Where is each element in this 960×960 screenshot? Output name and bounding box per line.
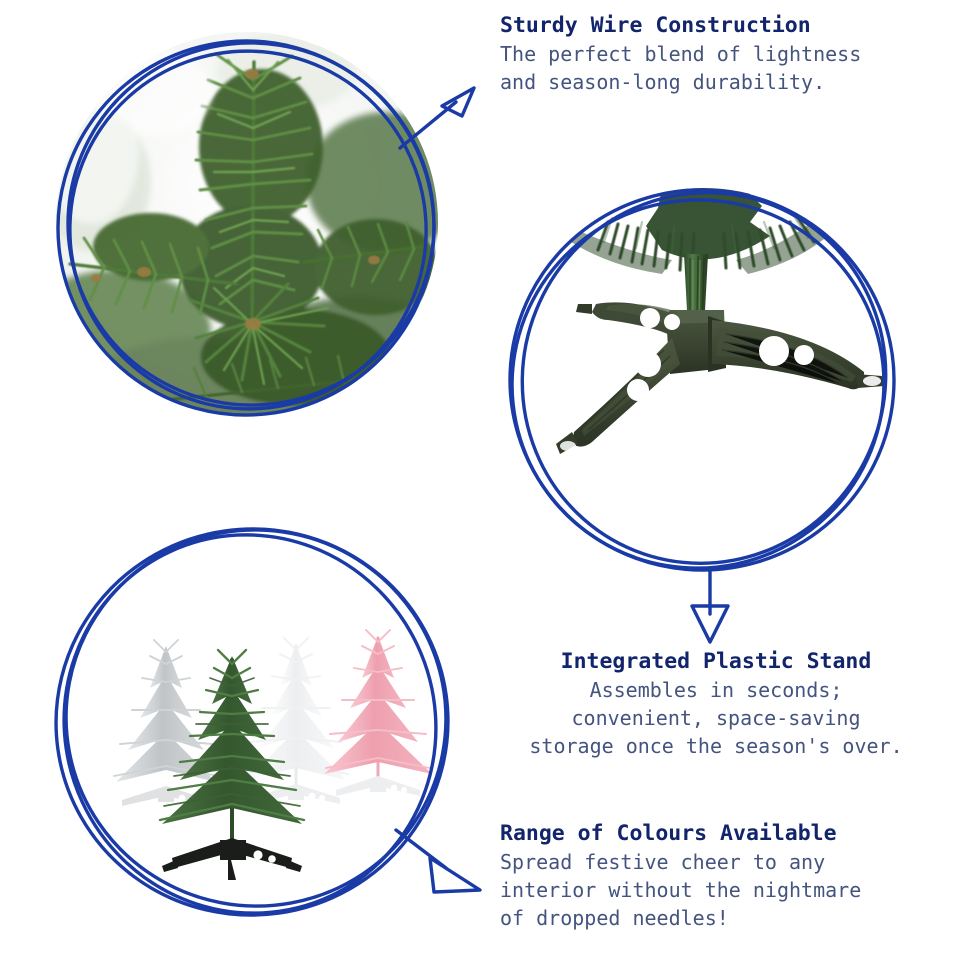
feature-body-range-of-colours-available: Spread festive cheer to any interior wit… (500, 848, 950, 933)
feature-body-line: of dropped needles! (500, 904, 950, 932)
feature-body-integrated-plastic-stand: Assembles in seconds; convenient, space-… (496, 676, 936, 761)
feature-heading-sturdy-wire-construction: Sturdy Wire Construction (500, 12, 950, 40)
feature-text-sturdy-wire-construction: Sturdy Wire Construction The perfect ble… (500, 12, 950, 96)
feature-text-range-of-colours-available: Range of Colours Available Spread festiv… (500, 820, 950, 933)
feature-body-line: Assembles in seconds; (496, 676, 936, 704)
feature-heading-range-of-colours-available: Range of Colours Available (500, 820, 950, 848)
pointer-arrow-integrated-plastic-stand (666, 566, 756, 656)
feature-body-line: and season-long durability. (500, 68, 950, 96)
colour-range-trees-photo (60, 528, 448, 916)
feature-body-line: interior without the nightmare (500, 876, 950, 904)
feature-body-line: convenient, space-saving (496, 704, 936, 732)
feature-image-range-of-colours-available (60, 528, 448, 916)
plastic-tree-stand-photo (512, 188, 894, 570)
feature-heading-integrated-plastic-stand: Integrated Plastic Stand (496, 648, 936, 676)
feature-body-line: storage once the season's over. (496, 732, 936, 760)
feature-text-integrated-plastic-stand: Integrated Plastic Stand Assembles in se… (496, 648, 936, 761)
feature-body-sturdy-wire-construction: The perfect blend of lightness and seaso… (500, 40, 950, 97)
feature-image-sturdy-wire-construction (56, 32, 438, 414)
feature-body-line: The perfect blend of lightness (500, 40, 950, 68)
feature-image-integrated-plastic-stand (512, 188, 894, 570)
pine-needle-closeup-photo (56, 32, 438, 414)
infographic-canvas: Sturdy Wire Construction The perfect ble… (0, 0, 960, 960)
feature-body-line: Spread festive cheer to any (500, 848, 950, 876)
